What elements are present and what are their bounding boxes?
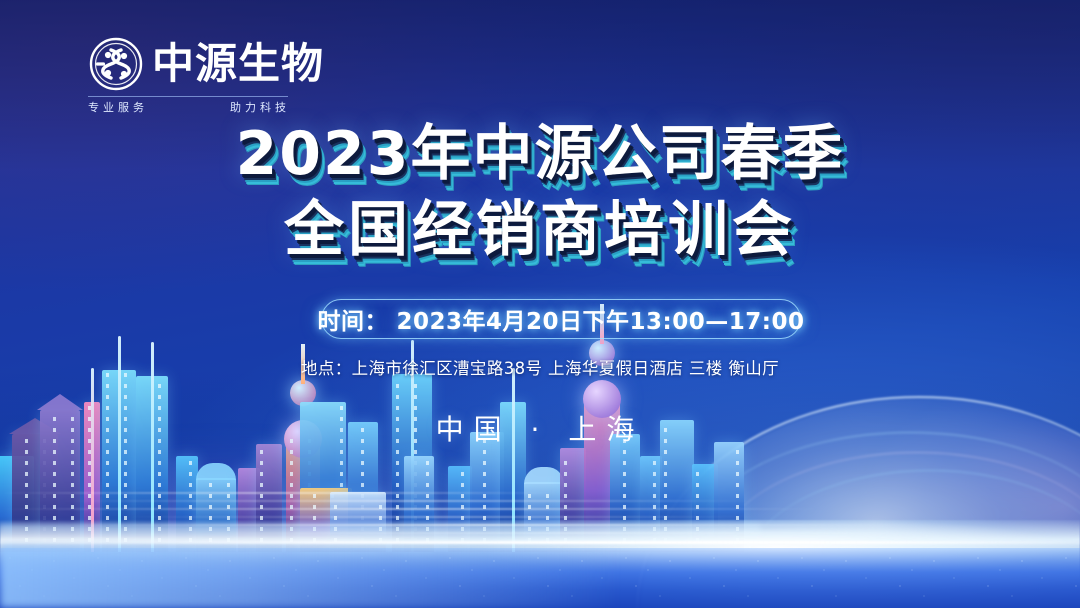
skyline-window [623,472,626,476]
skyline-window [396,450,399,454]
skyline-dome-roof [196,463,236,480]
skyline-window [414,450,417,454]
tagline-right: 助力科技 [230,99,290,115]
skyline-window [483,472,486,476]
skyline-window [88,472,91,476]
skyline-window [53,450,56,454]
skyline-window [158,450,161,454]
skyline-window [361,461,364,465]
skyline-window [653,461,656,465]
skyline-window [396,395,399,399]
light-streak [0,508,820,510]
skyline-window [106,450,109,454]
skyline-window [260,461,263,465]
skyline-window [736,461,739,465]
skyline-window [158,395,161,399]
skyline-window [290,461,293,465]
skyline-window [189,472,192,476]
skyline-window [106,472,109,476]
event-location-text: 地点：上海市徐汇区漕宝路38号 上海华夏假日酒店 三楼 衡山厅 [0,355,1080,379]
skyline-window [664,450,667,454]
logo-divider [88,96,288,97]
skyline-window [106,384,109,388]
skyline-window [158,384,161,388]
skyline-window [25,461,28,465]
skyline-window [414,384,417,388]
skyline-window [25,472,28,476]
skyline-window [260,450,263,454]
skyline-window [736,450,739,454]
skyline-window [340,461,343,465]
skyline-window [53,461,56,465]
skyline-window [124,384,127,388]
skyline-window [71,461,74,465]
skyline-window [106,395,109,399]
skyline-window [564,461,567,465]
poster-headline: 2023年中源公司春季 全国经销商培训会 [0,116,1080,268]
skyline-window [623,450,626,454]
skyline-window [124,450,127,454]
skyline-window [461,472,464,476]
tagline-left: 专业服务 [88,99,148,115]
skyline-window [396,472,399,476]
skyline-window [158,472,161,476]
skyline-window [88,461,91,465]
skyline-window [260,472,263,476]
skyline-window [290,472,293,476]
skyline-window [340,450,343,454]
brand-logo: 中源生物 专业服务 助力科技 [88,36,298,110]
skyline-window [124,472,127,476]
brand-tagline: 专业服务 助力科技 [88,99,290,115]
skyline-dome-roof [524,467,564,484]
light-streak [0,492,560,494]
skyline-window [396,384,399,388]
skyline-window [426,472,429,476]
skyline-window [53,472,56,476]
headline-line-2: 全国经销商培训会 [0,192,1080,268]
skyline-window [653,472,656,476]
skyline-window [71,450,74,454]
skyline-window [736,472,739,476]
skyline-window [25,450,28,454]
horizon-line [0,541,1080,544]
ground-plane-left-fade [0,546,620,608]
skyline-window [483,461,486,465]
light-streak [60,500,760,502]
skyline-window [361,472,364,476]
skyline-window [396,461,399,465]
dna-circle-logo-icon [88,36,144,92]
skyline-window [361,450,364,454]
skyline-window [696,472,699,476]
skyline-window [88,450,91,454]
skyline-window [623,461,626,465]
skyline-window [664,472,667,476]
skyline-window [564,472,567,476]
event-time-text: 时间： 2023年4月20日下午13:00—17:00 [318,302,805,336]
skyline-window [124,395,127,399]
skyline-window [158,461,161,465]
light-streak [120,516,760,518]
headline-line-1: 2023年中源公司春季 [0,116,1080,192]
skyline-window [664,461,667,465]
brand-name: 中源生物 [152,37,324,91]
skyline-window [414,395,417,399]
skyline-window [340,472,343,476]
event-time-capsule: 时间： 2023年4月20日下午13:00—17:00 [321,299,801,339]
event-city-label: 中国 · 上海 [0,408,1080,448]
event-poster: 中源生物 专业服务 助力科技 2023年中源公司春季 全国经销商培训会 时间： … [0,0,1080,608]
skyline-window [189,461,192,465]
skyline-window [106,461,109,465]
skyline-window [290,450,293,454]
skyline-window [71,472,74,476]
skyline-window [124,461,127,465]
skyline-window [426,461,429,465]
skyline-window [483,450,486,454]
